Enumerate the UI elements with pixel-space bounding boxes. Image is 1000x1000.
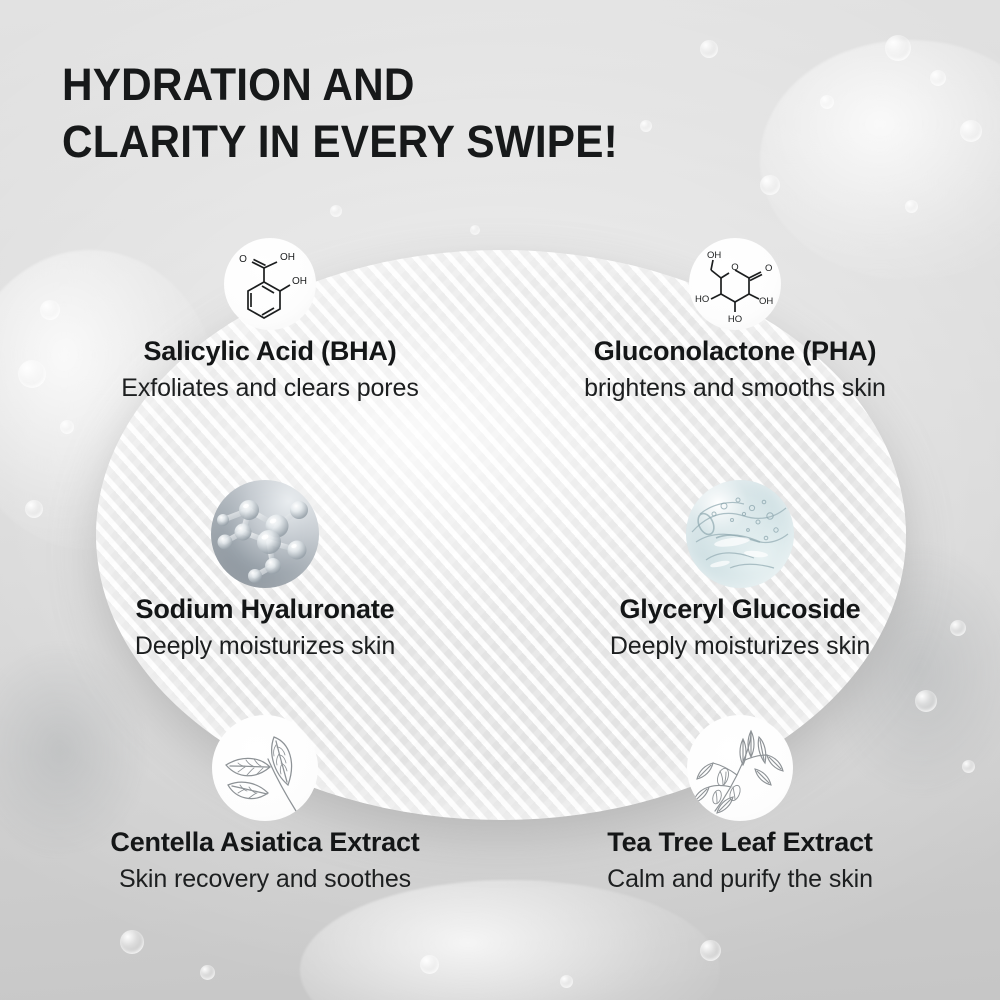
ingredient-title: Salicylic Acid (BHA) (30, 336, 510, 367)
ingredient-card-centella-asiatica: Centella Asiatica Extract Skin recovery … (25, 715, 505, 894)
ingredient-card-tea-tree-leaf: Tea Tree Leaf Extract Calm and purify th… (500, 715, 980, 894)
centella-leaf-sketch-icon (212, 715, 318, 821)
ingredient-title: Tea Tree Leaf Extract (500, 827, 980, 858)
ingredient-description: brightens and smooths skin (495, 374, 975, 403)
ingredient-description: Deeply moisturizes skin (500, 632, 980, 661)
gluconolactone-molecular-structure-icon: O O OH OH HO HO (689, 238, 781, 330)
ingredient-description: Skin recovery and soothes (25, 865, 505, 894)
svg-text:HO: HO (695, 294, 709, 305)
ingredient-card-glyceryl-glucoside: Glyceryl Glucoside Deeply moisturizes sk… (500, 480, 980, 661)
svg-text:OH: OH (292, 276, 307, 287)
svg-text:O: O (765, 263, 772, 274)
ingredient-card-gluconolactone: O O OH OH HO HO Gluconolactone (PHA) bri… (495, 238, 975, 403)
gel-texture-swatch-icon (686, 480, 794, 588)
ingredient-description: Calm and purify the skin (500, 865, 980, 894)
ingredient-title: Glyceryl Glucoside (500, 594, 980, 625)
svg-text:O: O (239, 254, 247, 265)
svg-text:O: O (731, 262, 738, 273)
ingredient-description: Exfoliates and clears pores (30, 374, 510, 403)
svg-text:HO: HO (728, 314, 742, 325)
tea-tree-branch-sketch-icon (687, 715, 793, 821)
ingredient-title: Gluconolactone (PHA) (495, 336, 975, 367)
svg-text:OH: OH (759, 296, 773, 307)
molecule-3d-render-icon (211, 480, 319, 588)
product-ingredient-infographic: HYDRATION AND CLARITY IN EVERY SWIPE! (0, 0, 1000, 1000)
ingredient-description: Deeply moisturizes skin (25, 632, 505, 661)
ingredient-title: Sodium Hyaluronate (25, 594, 505, 625)
page-title: HYDRATION AND CLARITY IN EVERY SWIPE! (62, 57, 618, 170)
ingredient-card-sodium-hyaluronate: Sodium Hyaluronate Deeply moisturizes sk… (25, 480, 505, 661)
ingredient-title: Centella Asiatica Extract (25, 827, 505, 858)
svg-text:OH: OH (707, 250, 721, 261)
ingredient-card-salicylic-acid: O OH OH Salicylic Acid (BHA) Exfoliates … (30, 238, 510, 403)
salicylic-acid-molecular-structure-icon: O OH OH (224, 238, 316, 330)
svg-text:OH: OH (280, 252, 295, 263)
